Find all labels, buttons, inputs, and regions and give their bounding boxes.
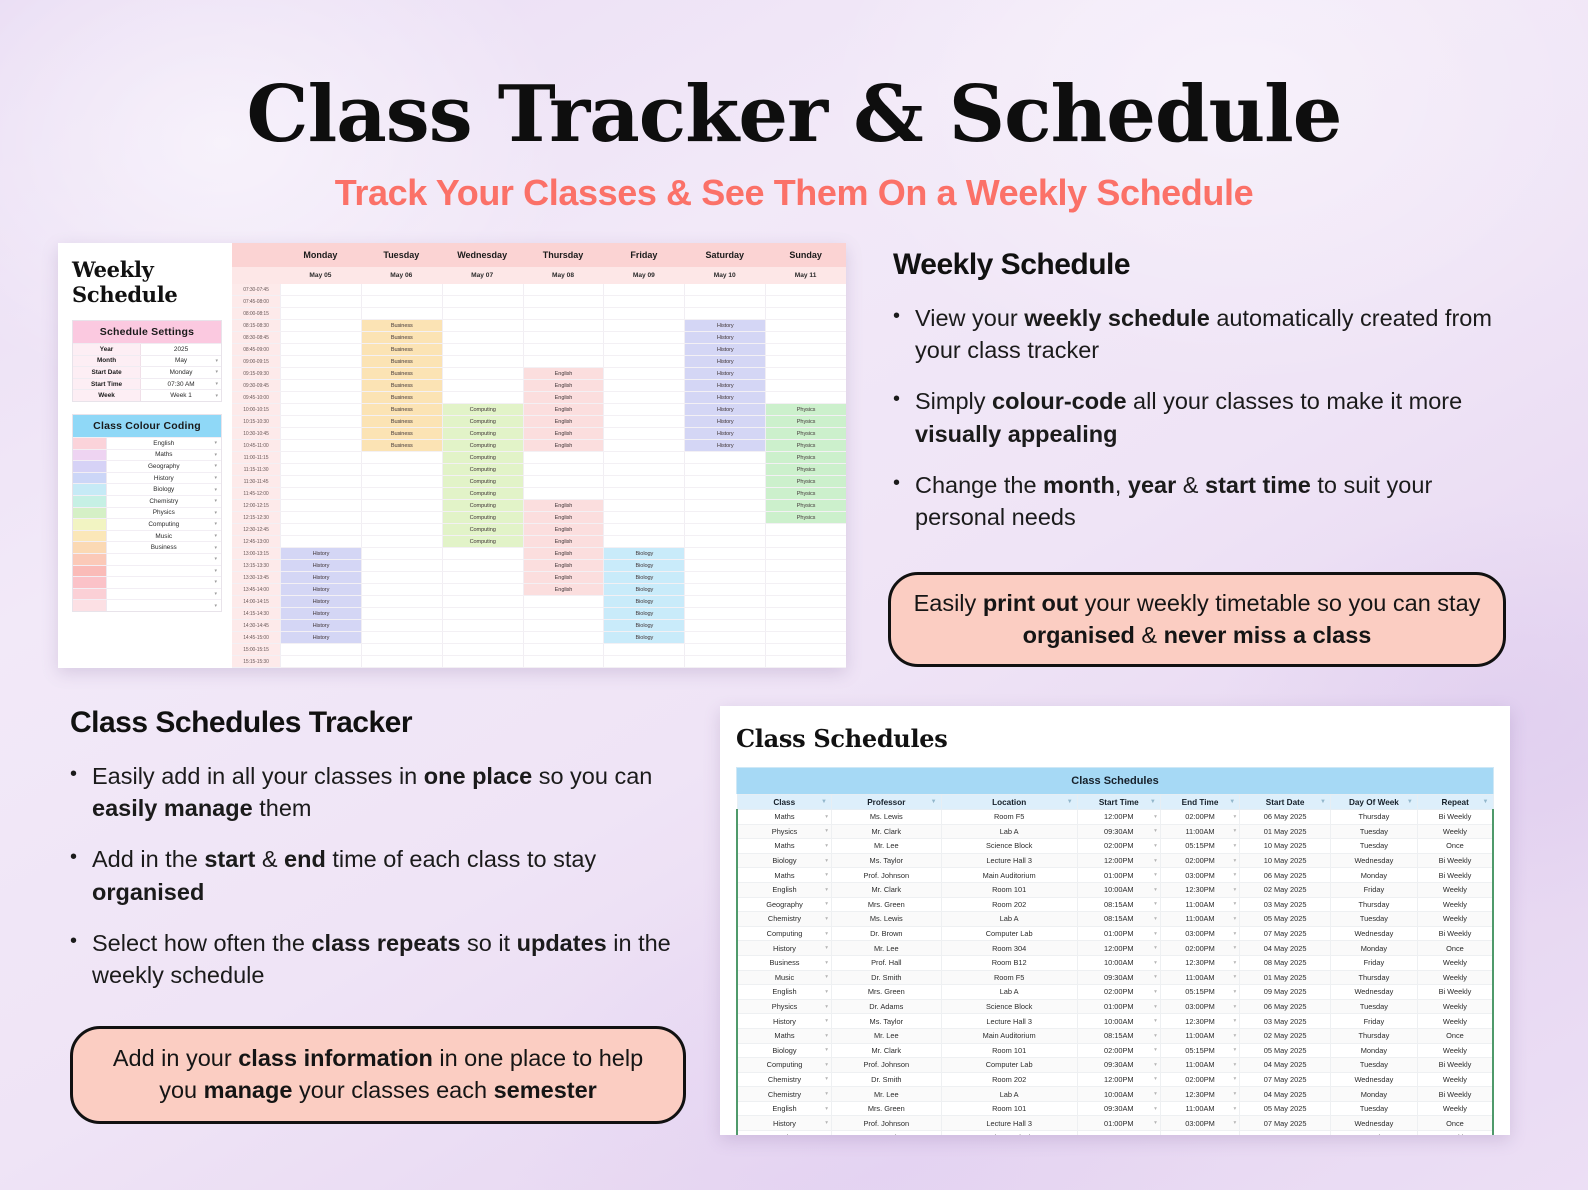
table-cell-professor[interactable]: Mrs. Green xyxy=(832,897,942,912)
colour-coding-class-name[interactable]: ▾ xyxy=(106,600,221,611)
table-cell-professor[interactable]: Mrs. Green xyxy=(832,1101,942,1116)
colour-coding-class-name[interactable]: History▾ xyxy=(106,473,221,484)
table-cell-start-date[interactable]: 06 May 2025 xyxy=(1240,999,1331,1014)
table-cell-day-of-week[interactable]: Thursday xyxy=(1330,897,1417,912)
grid-class-block[interactable]: Biology xyxy=(603,572,684,583)
table-cell-repeat[interactable]: Weekly xyxy=(1417,1072,1493,1087)
grid-class-block[interactable]: English xyxy=(523,428,604,439)
table-cell-start-time[interactable]: 02:00PM▾ xyxy=(1077,1043,1160,1058)
table-row[interactable]: Business▾Prof. HallRoom B1210:00AM▾12:30… xyxy=(737,955,1493,970)
table-cell-end-time[interactable]: 02:00PM▾ xyxy=(1160,1072,1239,1087)
grid-class-block[interactable]: Computing xyxy=(442,428,523,439)
table-cell-professor[interactable]: Dr. Smith xyxy=(832,1072,942,1087)
schedule-setting-row[interactable]: Year2025 xyxy=(73,343,221,355)
table-cell-location[interactable]: Lab A xyxy=(941,912,1077,927)
table-cell-day-of-week[interactable]: Thursday xyxy=(1330,810,1417,825)
table-cell-start-date[interactable]: 10 May 2025 xyxy=(1240,839,1331,854)
table-row[interactable]: History▾Mr. LeeRoom 30412:00PM▾02:00PM▾0… xyxy=(737,941,1493,956)
table-cell-class[interactable]: Computing▾ xyxy=(737,1058,832,1073)
grid-slot-cell[interactable] xyxy=(361,500,442,511)
table-row[interactable]: Biology▾Ms. TaylorLecture Hall 312:00PM▾… xyxy=(737,853,1493,868)
chevron-down-icon[interactable]: ▾ xyxy=(1233,1004,1236,1010)
grid-class-block[interactable]: History xyxy=(684,368,765,379)
grid-slot-cell[interactable] xyxy=(361,596,442,607)
table-cell-end-time[interactable]: 05:15PM▾ xyxy=(1160,1043,1239,1058)
grid-class-block[interactable]: Business xyxy=(361,392,442,403)
chevron-down-icon[interactable]: ▾ xyxy=(825,828,828,834)
chevron-down-icon[interactable]: ▾ xyxy=(1154,887,1157,893)
table-row[interactable]: Music▾Dr. SmithRoom F509:30AM▾11:00AM▾01… xyxy=(737,970,1493,985)
table-cell-day-of-week[interactable]: Wednesday xyxy=(1330,853,1417,868)
grid-slot-cell[interactable] xyxy=(684,584,765,595)
grid-slot-cell[interactable] xyxy=(442,356,523,367)
grid-slot-cell[interactable] xyxy=(684,644,765,655)
grid-slot-cell[interactable] xyxy=(361,488,442,499)
table-cell-day-of-week[interactable]: Tuesday xyxy=(1330,1101,1417,1116)
grid-slot-cell[interactable] xyxy=(442,308,523,319)
table-cell-end-time[interactable]: 05:15PM▾ xyxy=(1160,839,1239,854)
grid-slot-cell[interactable] xyxy=(442,656,523,667)
grid-slot-cell[interactable] xyxy=(523,644,604,655)
grid-slot-cell[interactable] xyxy=(280,536,361,547)
table-cell-start-date[interactable]: 01 May 2025 xyxy=(1240,970,1331,985)
table-cell-start-time[interactable]: 09:30AM▾ xyxy=(1077,824,1160,839)
table-cell-start-date[interactable]: 03 May 2025 xyxy=(1240,897,1331,912)
table-cell-professor[interactable]: Dr. Smith xyxy=(832,970,942,985)
grid-slot-cell[interactable] xyxy=(684,524,765,535)
colour-coding-class-name[interactable]: Maths▾ xyxy=(106,450,221,461)
grid-slot-cell[interactable] xyxy=(603,368,684,379)
table-cell-repeat[interactable]: Weekly xyxy=(1417,970,1493,985)
table-cell-end-time[interactable]: 11:00AM▾ xyxy=(1160,897,1239,912)
table-cell-end-time[interactable]: 12:30PM▾ xyxy=(1160,1014,1239,1029)
table-cell-repeat[interactable]: Bi Weekly xyxy=(1417,810,1493,825)
chevron-down-icon[interactable]: ▾ xyxy=(825,843,828,849)
table-cell-class[interactable]: Maths▾ xyxy=(737,868,832,883)
table-cell-class[interactable]: Maths▾ xyxy=(737,1028,832,1043)
grid-slot-cell[interactable] xyxy=(523,452,604,463)
table-cell-day-of-week[interactable]: Friday xyxy=(1330,882,1417,897)
table-column-header[interactable]: Day Of Week▼ xyxy=(1330,795,1417,810)
grid-slot-cell[interactable] xyxy=(765,356,846,367)
table-cell-repeat[interactable]: Once xyxy=(1417,941,1493,956)
grid-slot-cell[interactable] xyxy=(603,656,684,667)
table-cell-start-time[interactable]: 12:00PM▾ xyxy=(1077,1131,1160,1135)
table-row[interactable]: Computing▾Dr. BrownComputer Lab01:00PM▾0… xyxy=(737,926,1493,941)
chevron-down-icon[interactable]: ▾ xyxy=(214,591,217,597)
table-cell-start-date[interactable]: 06 May 2025 xyxy=(1240,810,1331,825)
table-cell-start-date[interactable]: 08 May 2025 xyxy=(1240,955,1331,970)
table-cell-end-time[interactable]: 11:00AM▾ xyxy=(1160,1058,1239,1073)
grid-slot-cell[interactable] xyxy=(280,344,361,355)
table-cell-start-time[interactable]: 01:00PM▾ xyxy=(1077,1116,1160,1131)
table-cell-end-time[interactable]: 03:00PM▾ xyxy=(1160,926,1239,941)
table-cell-location[interactable]: Room 304 xyxy=(941,941,1077,956)
table-column-header[interactable]: Class▼ xyxy=(737,795,832,810)
table-cell-repeat[interactable]: Weekly xyxy=(1417,1131,1493,1135)
table-cell-location[interactable]: Room F5 xyxy=(941,970,1077,985)
grid-slot-cell[interactable] xyxy=(361,620,442,631)
table-cell-end-time[interactable]: 12:30PM▾ xyxy=(1160,955,1239,970)
table-row[interactable]: English▾Mrs. GreenRoom 10109:30AM▾11:00A… xyxy=(737,1101,1493,1116)
table-cell-start-date[interactable]: 07 May 2025 xyxy=(1240,926,1331,941)
chevron-down-icon[interactable]: ▾ xyxy=(1233,1033,1236,1039)
table-row[interactable]: English▾Mr. ClarkRoom 10110:00AM▾12:30PM… xyxy=(737,882,1493,897)
grid-slot-cell[interactable] xyxy=(442,548,523,559)
table-cell-start-time[interactable]: 08:15AM▾ xyxy=(1077,1028,1160,1043)
chevron-down-icon[interactable]: ▾ xyxy=(1233,1106,1236,1112)
chevron-down-icon[interactable]: ▾ xyxy=(825,989,828,995)
grid-slot-cell[interactable] xyxy=(684,488,765,499)
table-cell-start-date[interactable]: 05 May 2025 xyxy=(1240,912,1331,927)
table-cell-professor[interactable]: Prof. Johnson xyxy=(832,1116,942,1131)
table-cell-repeat[interactable]: Weekly xyxy=(1417,999,1493,1014)
grid-slot-cell[interactable] xyxy=(603,380,684,391)
grid-class-block[interactable]: English xyxy=(523,524,604,535)
table-cell-end-time[interactable]: 12:30PM▾ xyxy=(1160,882,1239,897)
grid-slot-cell[interactable] xyxy=(361,656,442,667)
schedule-setting-row[interactable]: WeekWeek 1▾ xyxy=(73,389,221,401)
table-cell-day-of-week[interactable]: Tuesday xyxy=(1330,1058,1417,1073)
grid-class-block[interactable]: English xyxy=(523,512,604,523)
table-cell-class[interactable]: Physics▾ xyxy=(737,999,832,1014)
chevron-down-icon[interactable]: ▾ xyxy=(825,960,828,966)
grid-slot-cell[interactable] xyxy=(765,632,846,643)
table-cell-repeat[interactable]: Once xyxy=(1417,1116,1493,1131)
table-cell-professor[interactable]: Mr. Clark xyxy=(832,824,942,839)
table-cell-end-time[interactable]: 02:00PM▾ xyxy=(1160,941,1239,956)
grid-class-block[interactable]: Physics xyxy=(765,416,846,427)
table-cell-professor[interactable]: Ms. Lewis xyxy=(832,810,942,825)
chevron-down-icon[interactable]: ▾ xyxy=(825,1106,828,1112)
colour-coding-class-name[interactable]: English▾ xyxy=(106,438,221,449)
chevron-down-icon[interactable]: ▾ xyxy=(1154,814,1157,820)
chevron-down-icon[interactable]: ▾ xyxy=(825,1018,828,1024)
grid-slot-cell[interactable] xyxy=(765,284,846,295)
grid-class-block[interactable]: History xyxy=(280,620,361,631)
table-cell-professor[interactable]: Mr. Clark xyxy=(832,882,942,897)
grid-slot-cell[interactable] xyxy=(684,536,765,547)
grid-slot-cell[interactable] xyxy=(603,500,684,511)
chevron-down-icon[interactable]: ▾ xyxy=(1233,843,1236,849)
chevron-down-icon[interactable]: ▾ xyxy=(1154,828,1157,834)
grid-class-block[interactable]: Physics xyxy=(765,440,846,451)
grid-slot-cell[interactable] xyxy=(442,644,523,655)
chevron-down-icon[interactable]: ▾ xyxy=(1154,916,1157,922)
table-cell-day-of-week[interactable]: Wednesday xyxy=(1330,926,1417,941)
grid-slot-cell[interactable] xyxy=(765,572,846,583)
table-cell-professor[interactable]: Mr. Lee xyxy=(832,1028,942,1043)
grid-class-block[interactable]: History xyxy=(280,596,361,607)
colour-coding-class-name[interactable]: ▾ xyxy=(106,577,221,588)
grid-slot-cell[interactable] xyxy=(765,644,846,655)
grid-slot-cell[interactable] xyxy=(280,428,361,439)
table-cell-repeat[interactable]: Bi Weekly xyxy=(1417,1087,1493,1102)
table-cell-end-time[interactable]: 03:00PM▾ xyxy=(1160,1116,1239,1131)
grid-slot-cell[interactable] xyxy=(280,440,361,451)
table-cell-professor[interactable]: Ms. Taylor xyxy=(832,1131,942,1135)
grid-slot-cell[interactable] xyxy=(765,308,846,319)
grid-class-block[interactable]: Computing xyxy=(442,512,523,523)
schedule-setting-row[interactable]: Start Time07:30 AM▾ xyxy=(73,378,221,390)
chevron-down-icon[interactable]: ▾ xyxy=(1154,989,1157,995)
grid-slot-cell[interactable] xyxy=(280,284,361,295)
grid-slot-cell[interactable] xyxy=(442,344,523,355)
colour-coding-class-name[interactable]: ▾ xyxy=(106,589,221,600)
chevron-down-icon[interactable]: ▾ xyxy=(1233,1062,1236,1068)
grid-class-block[interactable]: Biology xyxy=(603,608,684,619)
grid-slot-cell[interactable] xyxy=(523,608,604,619)
table-row[interactable]: Physics▾Mr. ClarkLab A09:30AM▾11:00AM▾01… xyxy=(737,824,1493,839)
table-cell-start-time[interactable]: 12:00PM▾ xyxy=(1077,1072,1160,1087)
chevron-down-icon[interactable]: ▾ xyxy=(825,887,828,893)
grid-class-block[interactable]: English xyxy=(523,368,604,379)
table-cell-day-of-week[interactable]: Wednesday xyxy=(1330,1072,1417,1087)
grid-slot-cell[interactable] xyxy=(603,284,684,295)
grid-class-block[interactable]: History xyxy=(684,344,765,355)
grid-class-block[interactable]: Computing xyxy=(442,452,523,463)
table-cell-class[interactable]: Music▾ xyxy=(737,970,832,985)
chevron-down-icon[interactable]: ▾ xyxy=(214,579,217,585)
table-cell-class[interactable]: Chemistry▾ xyxy=(737,1072,832,1087)
grid-class-block[interactable]: English xyxy=(523,572,604,583)
grid-slot-cell[interactable] xyxy=(361,308,442,319)
setting-value[interactable]: Week 1▾ xyxy=(141,390,221,401)
table-column-header[interactable]: Repeat▼ xyxy=(1417,795,1493,810)
colour-coding-row[interactable]: Maths▾ xyxy=(73,449,221,461)
chevron-down-icon[interactable]: ▾ xyxy=(1154,1004,1157,1010)
grid-slot-cell[interactable] xyxy=(361,524,442,535)
chevron-down-icon[interactable]: ▾ xyxy=(825,814,828,820)
grid-slot-cell[interactable] xyxy=(765,548,846,559)
table-cell-day-of-week[interactable]: Monday xyxy=(1330,1043,1417,1058)
table-cell-start-time[interactable]: 09:30AM▾ xyxy=(1077,1058,1160,1073)
table-cell-professor[interactable]: Ms. Taylor xyxy=(832,1014,942,1029)
colour-coding-class-name[interactable]: Biology▾ xyxy=(106,484,221,495)
grid-class-block[interactable]: Business xyxy=(361,404,442,415)
chevron-down-icon[interactable]: ▾ xyxy=(214,510,217,516)
chevron-down-icon[interactable]: ▾ xyxy=(825,931,828,937)
grid-slot-cell[interactable] xyxy=(442,560,523,571)
table-cell-location[interactable]: Room F5 xyxy=(941,810,1077,825)
table-cell-repeat[interactable]: Once xyxy=(1417,839,1493,854)
table-cell-end-time[interactable]: 02:00PM▾ xyxy=(1160,853,1239,868)
chevron-down-icon[interactable]: ▾ xyxy=(215,393,218,399)
grid-class-block[interactable]: History xyxy=(280,560,361,571)
grid-slot-cell[interactable] xyxy=(442,632,523,643)
table-cell-day-of-week[interactable]: Thursday xyxy=(1330,1028,1417,1043)
grid-slot-cell[interactable] xyxy=(442,584,523,595)
table-cell-day-of-week[interactable]: Monday xyxy=(1330,941,1417,956)
colour-coding-row[interactable]: Music▾ xyxy=(73,530,221,542)
grid-slot-cell[interactable] xyxy=(361,296,442,307)
table-cell-end-time[interactable]: 03:00PM▾ xyxy=(1160,868,1239,883)
colour-coding-row[interactable]: ▾ xyxy=(73,576,221,588)
chevron-down-icon[interactable]: ▾ xyxy=(1233,1047,1236,1053)
chevron-down-icon[interactable]: ▾ xyxy=(1154,1120,1157,1126)
grid-slot-cell[interactable] xyxy=(523,332,604,343)
chevron-down-icon[interactable]: ▾ xyxy=(825,858,828,864)
table-cell-location[interactable]: Lecture Hall 3 xyxy=(941,1014,1077,1029)
chevron-down-icon[interactable]: ▾ xyxy=(1233,916,1236,922)
chevron-down-icon[interactable]: ▾ xyxy=(215,369,218,375)
class-schedules-table[interactable]: Class▼Professor▼Location▼Start Time▼End … xyxy=(736,794,1494,1135)
grid-class-block[interactable]: Business xyxy=(361,380,442,391)
table-cell-day-of-week[interactable]: Tuesday xyxy=(1330,839,1417,854)
grid-class-block[interactable]: History xyxy=(684,416,765,427)
colour-coding-class-name[interactable]: ▾ xyxy=(106,554,221,565)
table-cell-professor[interactable]: Mr. Lee xyxy=(832,941,942,956)
table-cell-day-of-week[interactable]: Friday xyxy=(1330,1014,1417,1029)
grid-body[interactable]: 07:30-07:4507:45-08:0008:00-08:1508:15-0… xyxy=(232,284,846,668)
chevron-down-icon[interactable]: ▾ xyxy=(825,945,828,951)
table-row[interactable]: Chemistry▾Dr. SmithRoom 20212:00PM▾02:00… xyxy=(737,1072,1493,1087)
chevron-down-icon[interactable]: ▾ xyxy=(215,358,218,364)
chevron-down-icon[interactable]: ▾ xyxy=(1154,931,1157,937)
table-row[interactable]: Maths▾Ms. TaylorScience Block12:00PM▾02:… xyxy=(737,1131,1493,1135)
grid-slot-cell[interactable] xyxy=(603,452,684,463)
table-row[interactable]: Physics▾Dr. AdamsScience Block01:00PM▾03… xyxy=(737,999,1493,1014)
grid-slot-cell[interactable] xyxy=(603,512,684,523)
grid-slot-cell[interactable] xyxy=(603,644,684,655)
grid-slot-cell[interactable] xyxy=(280,416,361,427)
grid-class-block[interactable]: Computing xyxy=(442,416,523,427)
table-cell-start-date[interactable]: 04 May 2025 xyxy=(1240,1087,1331,1102)
chevron-down-icon[interactable]: ▾ xyxy=(825,1004,828,1010)
table-cell-class[interactable]: Maths▾ xyxy=(737,1131,832,1135)
grid-class-block[interactable]: Computing xyxy=(442,524,523,535)
grid-slot-cell[interactable] xyxy=(684,620,765,631)
chevron-down-icon[interactable]: ▾ xyxy=(1233,901,1236,907)
grid-slot-cell[interactable] xyxy=(523,488,604,499)
grid-slot-cell[interactable] xyxy=(603,464,684,475)
grid-slot-cell[interactable] xyxy=(280,296,361,307)
grid-slot-cell[interactable] xyxy=(765,608,846,619)
table-row[interactable]: Computing▾Prof. JohnsonComputer Lab09:30… xyxy=(737,1058,1493,1073)
grid-slot-cell[interactable] xyxy=(280,524,361,535)
grid-class-block[interactable]: English xyxy=(523,380,604,391)
grid-class-block[interactable]: English xyxy=(523,548,604,559)
grid-slot-cell[interactable] xyxy=(523,656,604,667)
table-cell-start-date[interactable]: 04 May 2025 xyxy=(1240,941,1331,956)
table-cell-start-time[interactable]: 08:15AM▾ xyxy=(1077,897,1160,912)
table-cell-end-time[interactable]: 12:30PM▾ xyxy=(1160,1087,1239,1102)
grid-slot-cell[interactable] xyxy=(361,452,442,463)
chevron-down-icon[interactable]: ▾ xyxy=(214,498,217,504)
table-cell-day-of-week[interactable]: Thursday xyxy=(1330,970,1417,985)
grid-slot-cell[interactable] xyxy=(442,608,523,619)
table-cell-start-date[interactable]: 04 May 2025 xyxy=(1240,1058,1331,1073)
grid-class-block[interactable]: History xyxy=(684,320,765,331)
grid-class-block[interactable]: Physics xyxy=(765,404,846,415)
chevron-down-icon[interactable]: ▾ xyxy=(215,381,218,387)
grid-slot-cell[interactable] xyxy=(280,404,361,415)
table-column-header[interactable]: Start Date▼ xyxy=(1240,795,1331,810)
table-cell-start-time[interactable]: 01:00PM▾ xyxy=(1077,926,1160,941)
table-cell-repeat[interactable]: Weekly xyxy=(1417,912,1493,927)
filter-icon[interactable]: ▼ xyxy=(1320,799,1326,805)
grid-slot-cell[interactable] xyxy=(684,284,765,295)
grid-slot-cell[interactable] xyxy=(523,344,604,355)
grid-slot-cell[interactable] xyxy=(523,620,604,631)
chevron-down-icon[interactable]: ▾ xyxy=(1233,931,1236,937)
table-column-header[interactable]: Professor▼ xyxy=(832,795,942,810)
grid-slot-cell[interactable] xyxy=(603,440,684,451)
grid-slot-cell[interactable] xyxy=(442,284,523,295)
grid-class-block[interactable]: History xyxy=(280,632,361,643)
table-cell-end-time[interactable]: 11:00AM▾ xyxy=(1160,1101,1239,1116)
table-cell-day-of-week[interactable]: Tuesday xyxy=(1330,999,1417,1014)
grid-slot-cell[interactable] xyxy=(361,536,442,547)
filter-icon[interactable]: ▼ xyxy=(1407,799,1413,805)
filter-icon[interactable]: ▼ xyxy=(821,799,827,805)
grid-slot-cell[interactable] xyxy=(765,344,846,355)
table-cell-professor[interactable]: Ms. Taylor xyxy=(832,853,942,868)
table-cell-start-time[interactable]: 12:00PM▾ xyxy=(1077,810,1160,825)
grid-class-block[interactable]: History xyxy=(684,404,765,415)
chevron-down-icon[interactable]: ▾ xyxy=(825,872,828,878)
grid-slot-cell[interactable] xyxy=(684,608,765,619)
grid-class-block[interactable]: Business xyxy=(361,368,442,379)
filter-icon[interactable]: ▼ xyxy=(1150,799,1156,805)
grid-class-block[interactable]: Computing xyxy=(442,440,523,451)
grid-slot-cell[interactable] xyxy=(280,380,361,391)
table-row[interactable]: Chemistry▾Ms. LewisLab A08:15AM▾11:00AM▾… xyxy=(737,912,1493,927)
grid-slot-cell[interactable] xyxy=(765,524,846,535)
chevron-down-icon[interactable]: ▾ xyxy=(1233,989,1236,995)
grid-class-block[interactable]: Business xyxy=(361,332,442,343)
schedule-setting-row[interactable]: MonthMay▾ xyxy=(73,355,221,367)
table-cell-location[interactable]: Main Auditorium xyxy=(941,1028,1077,1043)
grid-class-block[interactable]: Computing xyxy=(442,476,523,487)
table-cell-start-date[interactable]: 09 May 2025 xyxy=(1240,985,1331,1000)
chevron-down-icon[interactable]: ▾ xyxy=(825,916,828,922)
table-cell-repeat[interactable]: Weekly xyxy=(1417,882,1493,897)
chevron-down-icon[interactable]: ▾ xyxy=(1233,1120,1236,1126)
grid-slot-cell[interactable] xyxy=(442,296,523,307)
filter-icon[interactable]: ▼ xyxy=(1067,799,1073,805)
grid-slot-cell[interactable] xyxy=(684,452,765,463)
table-cell-end-time[interactable]: 11:00AM▾ xyxy=(1160,824,1239,839)
table-cell-day-of-week[interactable]: Wednesday xyxy=(1330,1116,1417,1131)
grid-slot-cell[interactable] xyxy=(684,572,765,583)
table-cell-end-time[interactable]: 11:00AM▾ xyxy=(1160,970,1239,985)
table-cell-location[interactable]: Science Block xyxy=(941,839,1077,854)
chevron-down-icon[interactable]: ▾ xyxy=(825,1047,828,1053)
grid-slot-cell[interactable] xyxy=(280,644,361,655)
grid-class-block[interactable]: Physics xyxy=(765,428,846,439)
grid-slot-cell[interactable] xyxy=(684,500,765,511)
grid-class-block[interactable]: Biology xyxy=(603,596,684,607)
table-cell-start-date[interactable]: 02 May 2025 xyxy=(1240,882,1331,897)
table-cell-location[interactable]: Room 101 xyxy=(941,1043,1077,1058)
table-row[interactable]: Geography▾Mrs. GreenRoom 20208:15AM▾11:0… xyxy=(737,897,1493,912)
setting-value[interactable]: Monday▾ xyxy=(141,367,221,378)
table-column-header[interactable]: Start Time▼ xyxy=(1077,795,1160,810)
table-cell-professor[interactable]: Prof. Johnson xyxy=(832,1058,942,1073)
colour-coding-row[interactable]: ▾ xyxy=(73,553,221,565)
colour-coding-row[interactable]: History▾ xyxy=(73,472,221,484)
grid-slot-cell[interactable] xyxy=(523,596,604,607)
table-cell-repeat[interactable]: Weekly xyxy=(1417,1014,1493,1029)
grid-slot-cell[interactable] xyxy=(765,368,846,379)
chevron-down-icon[interactable]: ▾ xyxy=(1154,974,1157,980)
table-row[interactable]: English▾Mrs. GreenLab A02:00PM▾05:15PM▾0… xyxy=(737,985,1493,1000)
table-cell-start-date[interactable]: 06 May 2025 xyxy=(1240,1131,1331,1135)
grid-class-block[interactable]: English xyxy=(523,440,604,451)
table-cell-class[interactable]: Biology▾ xyxy=(737,853,832,868)
grid-slot-cell[interactable] xyxy=(280,356,361,367)
